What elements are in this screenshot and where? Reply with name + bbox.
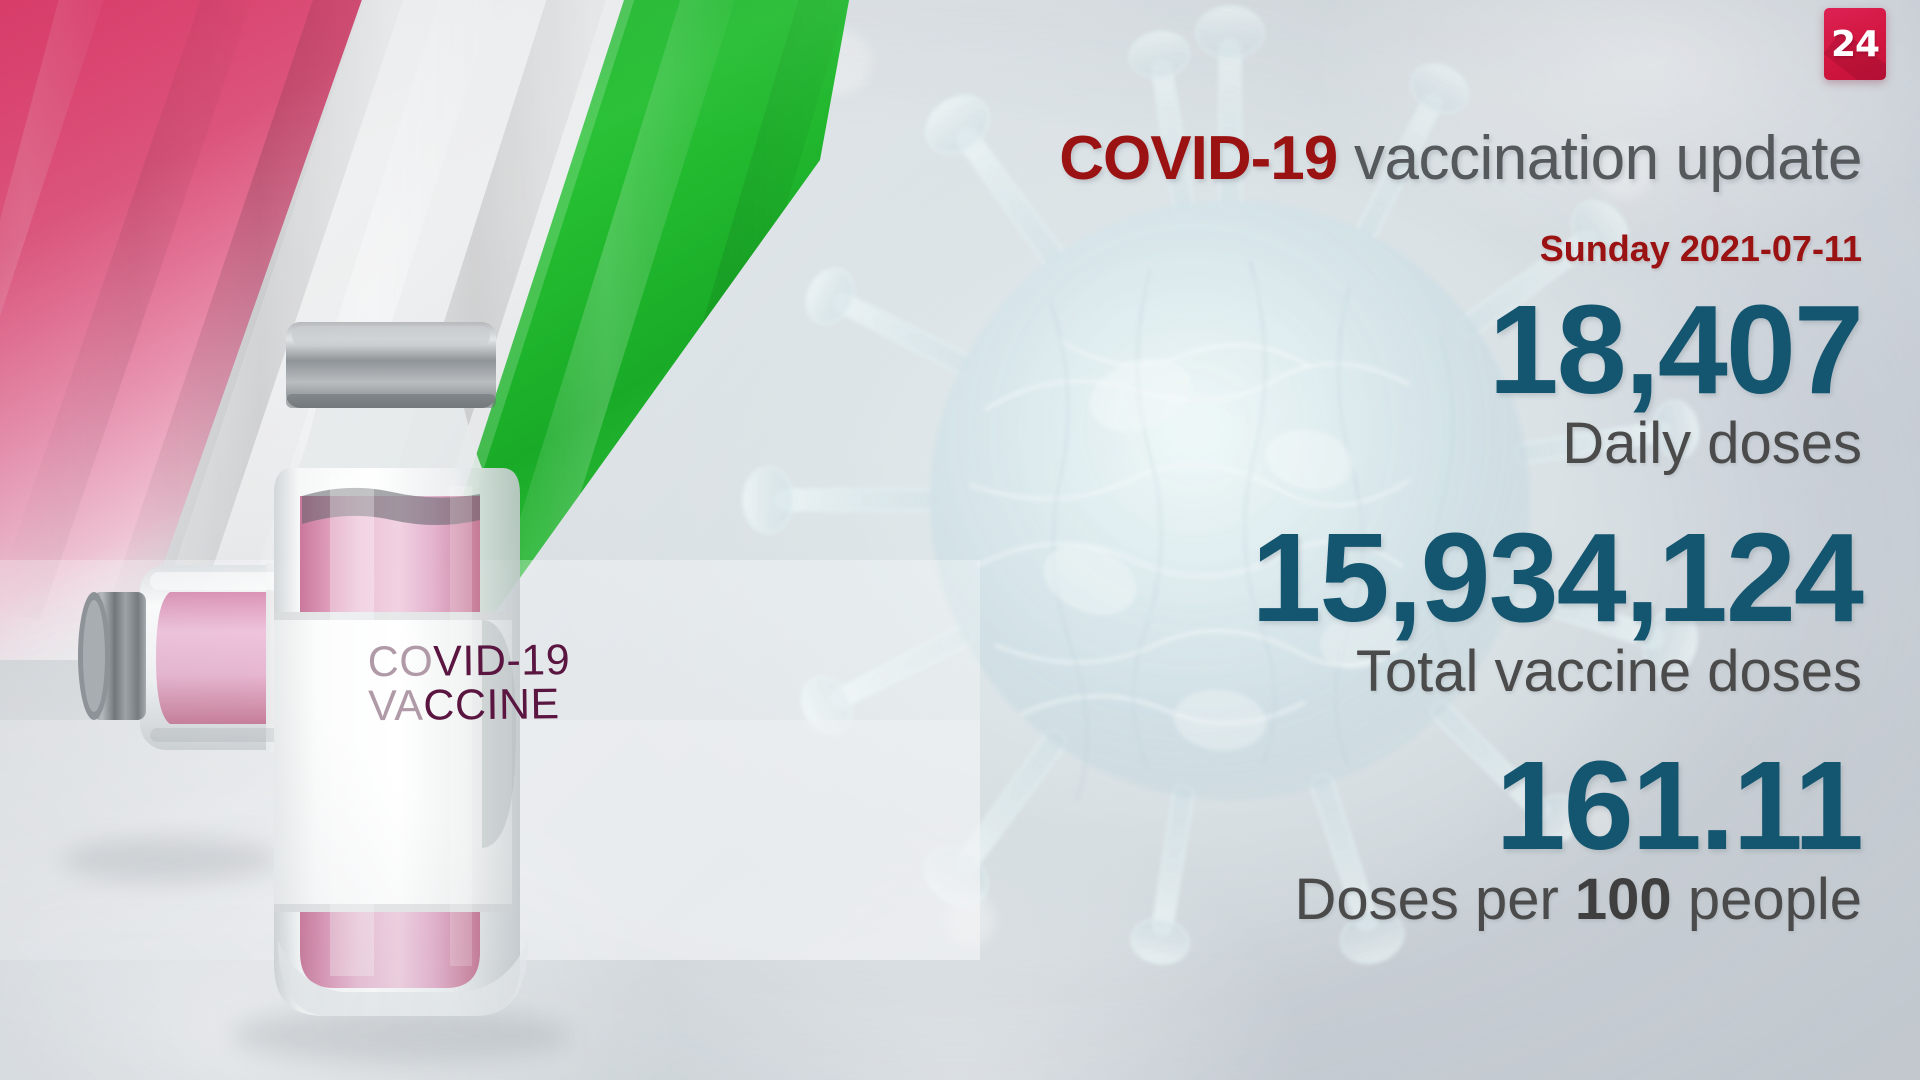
caption-pre: Total vaccine doses — [1356, 639, 1862, 704]
stat-value: 15,934,124 — [902, 520, 1862, 636]
stat-value: 161.11 — [902, 748, 1862, 864]
title-rest: vaccination update — [1337, 124, 1862, 193]
stat-value: 18,407 — [902, 292, 1862, 408]
stat-caption: Doses per 100 people — [902, 870, 1862, 931]
caption-bold: 100 — [1575, 867, 1672, 932]
caption-post: people — [1672, 867, 1862, 932]
report-date: Sunday 2021-07-11 — [1540, 228, 1862, 270]
page-title: COVID-19 vaccination update — [1059, 128, 1862, 190]
stat-total-doses: 15,934,124 Total vaccine doses — [902, 520, 1862, 703]
stat-daily-doses: 18,407 Daily doses — [902, 292, 1862, 475]
infographic-canvas: COVID-19 VACCINE 24 COVID-19 vaccination… — [0, 0, 1920, 1080]
content-panel: COVID-19 vaccination update Sunday 2021-… — [902, 0, 1862, 1080]
channel-logo-label: 24 — [1831, 24, 1879, 65]
stat-doses-per-100: 161.11 Doses per 100 people — [902, 748, 1862, 931]
caption-pre: Doses per — [1294, 867, 1574, 932]
title-highlight: COVID-19 — [1059, 124, 1337, 193]
caption-pre: Daily doses — [1562, 411, 1862, 476]
stat-caption: Total vaccine doses — [902, 642, 1862, 703]
stat-caption: Daily doses — [902, 414, 1862, 475]
